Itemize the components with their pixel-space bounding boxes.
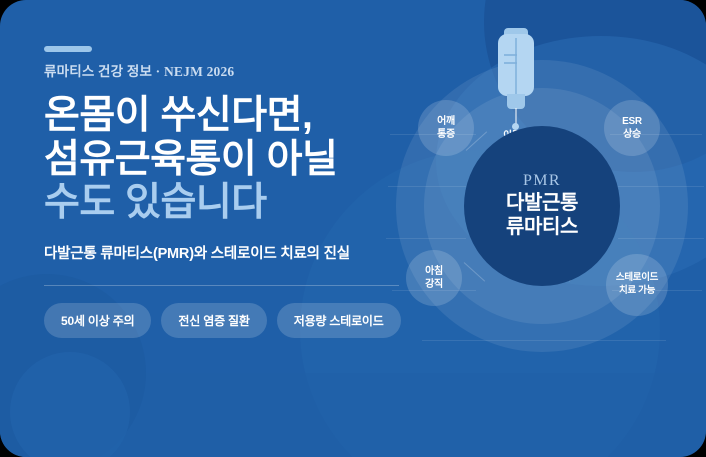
chip-low-dose-steroid[interactable]: 저용량 스테로이드 bbox=[277, 303, 401, 338]
core-abbreviation: PMR bbox=[523, 172, 561, 190]
iv-bag-graduation bbox=[504, 62, 517, 64]
iv-bag-stem bbox=[515, 38, 517, 96]
chip-list: 50세 이상 주의 전신 염증 질환 저용량 스테로이드 bbox=[44, 303, 444, 338]
gridline bbox=[422, 340, 666, 341]
node-steroid-treatable[interactable]: 스테로이드 치료 가능 bbox=[606, 254, 668, 316]
iv-bag-neck bbox=[507, 94, 525, 109]
headline-line-2: 섬유근육통이 아닐 bbox=[44, 138, 444, 182]
headline: 온몸이 쑤신다면, 섬유근육통이 아닐 수도 있습니다 bbox=[44, 94, 444, 225]
headline-line-1: 온몸이 쑤신다면, bbox=[44, 94, 444, 138]
node-esr-elevated[interactable]: ESR 상승 bbox=[604, 100, 660, 156]
eyebrow-label: 류마티스 건강 정보 · NEJM 2026 bbox=[44, 60, 444, 80]
node-label-line-2: 치료 가능 bbox=[619, 285, 655, 298]
subtitle: 다발근통 류마티스(PMR)와 스테로이드 치료의 진실 bbox=[44, 242, 444, 263]
node-label-line-2: 상승 bbox=[623, 128, 641, 141]
divider bbox=[44, 285, 399, 286]
gridline bbox=[618, 186, 704, 187]
iv-bag-icon bbox=[495, 28, 537, 132]
diagram-core: PMR 다발근통 류마티스 bbox=[464, 126, 620, 286]
headline-line-3: 수도 있습니다 bbox=[44, 181, 444, 225]
iv-bag-graduation bbox=[504, 54, 517, 56]
core-title: 다발근통 류마티스 bbox=[506, 192, 578, 239]
core-title-line-1: 다발근통 bbox=[506, 192, 578, 216]
chip-age-warning[interactable]: 50세 이상 주의 bbox=[44, 303, 151, 338]
core-title-line-2: 류마티스 bbox=[506, 216, 578, 240]
chip-systemic-inflammation[interactable]: 전신 염증 질환 bbox=[161, 303, 266, 338]
node-label-line-1: 스테로이드 bbox=[616, 272, 658, 285]
accent-bar bbox=[44, 46, 92, 52]
text-column: 류마티스 건강 정보 · NEJM 2026 온몸이 쑤신다면, 섬유근육통이 … bbox=[44, 46, 444, 338]
node-label-line-1: ESR bbox=[622, 115, 642, 128]
infographic-card: 류마티스 건강 정보 · NEJM 2026 온몸이 쑤신다면, 섬유근육통이 … bbox=[0, 0, 706, 457]
gridline bbox=[618, 238, 704, 239]
